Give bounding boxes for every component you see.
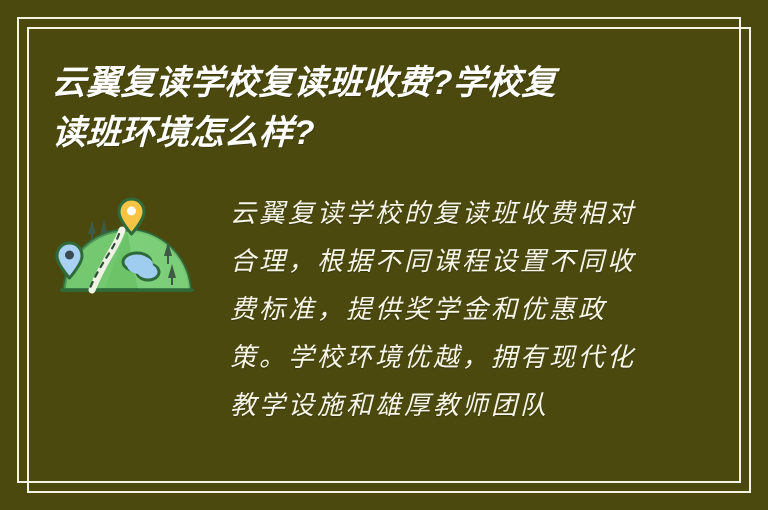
- poster-canvas: 云翼复读学校复读班收费?学校复 读班环境怎么样?: [0, 0, 768, 510]
- map-illustration: [52, 194, 202, 304]
- content-row: 云翼复读学校的复读班收费相对合理，根据不同课程设置不同收费标准，提供奖学金和优惠…: [52, 190, 716, 430]
- body-paragraph: 云翼复读学校的复读班收费相对合理，根据不同课程设置不同收费标准，提供奖学金和优惠…: [230, 190, 660, 430]
- title-line-2: 读班环境怎么样?: [51, 108, 653, 158]
- page-title: 云翼复读学校复读班收费?学校复 读班环境怎么样?: [52, 58, 652, 158]
- title-line-1: 云翼复读学校复读班收费?学校复: [51, 58, 653, 108]
